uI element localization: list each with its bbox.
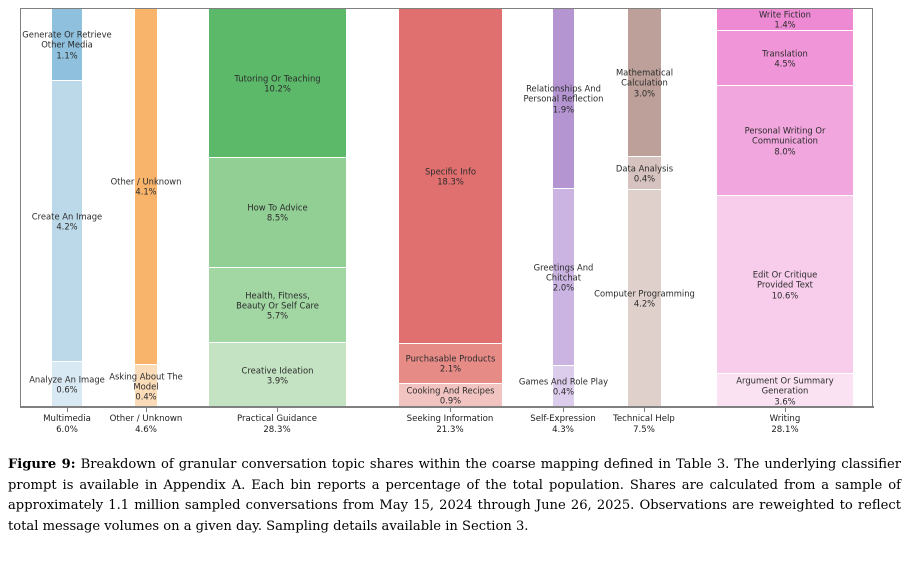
- category-total: 4.3%: [530, 425, 595, 436]
- category-total: 7.5%: [613, 425, 675, 436]
- mosaic-segment[interactable]: [209, 9, 346, 158]
- category-total: 28.3%: [237, 425, 317, 436]
- category-name: Multimedia: [43, 414, 91, 425]
- category-total: 6.0%: [43, 425, 91, 436]
- category-name: Seeking Information: [407, 414, 494, 425]
- x-tick-label-seeking-information: Seeking Information21.3%: [407, 414, 494, 436]
- x-axis-tick: [67, 407, 68, 412]
- mosaic-segment[interactable]: [399, 344, 502, 384]
- category-name: Other / Unknown: [110, 414, 183, 425]
- x-tick-label-practical-guidance: Practical Guidance28.3%: [237, 414, 317, 436]
- x-axis-tick: [644, 407, 645, 412]
- figure-container: Generate Or RetrieveOther Media1.1%Creat…: [0, 0, 909, 566]
- category-name: Practical Guidance: [237, 414, 317, 425]
- mosaic-column-other-unknown: Other / Unknown4.1%Asking About TheModel…: [135, 9, 157, 408]
- x-axis-tick: [785, 407, 786, 412]
- category-total: 21.3%: [407, 425, 494, 436]
- mosaic-segment[interactable]: [553, 366, 574, 408]
- x-axis-line: [20, 406, 874, 408]
- x-tick-label-multimedia: Multimedia6.0%: [43, 414, 91, 436]
- mosaic-segment[interactable]: [209, 158, 346, 268]
- mosaic-segment[interactable]: [717, 31, 853, 86]
- mosaic-column-multimedia: Generate Or RetrieveOther Media1.1%Creat…: [52, 9, 82, 408]
- figure-label: Figure 9:: [8, 457, 76, 472]
- category-total: 4.6%: [110, 425, 183, 436]
- x-axis-tick: [277, 407, 278, 412]
- mosaic-segment[interactable]: [52, 9, 82, 81]
- mosaic-segment[interactable]: [717, 86, 853, 196]
- mosaic-segment[interactable]: [717, 9, 853, 31]
- x-tick-label-self-expression: Self-Expression4.3%: [530, 414, 595, 436]
- mosaic-column-writing: Write Fiction1.4%Translation4.5%Personal…: [717, 9, 853, 408]
- mosaic-column-seeking-information: Specific Info18.3%Purchasable Products2.…: [399, 9, 502, 408]
- mosaic-segment[interactable]: [399, 384, 502, 408]
- mosaic-segment[interactable]: [553, 9, 574, 189]
- figure-caption-text: Breakdown of granular conversation topic…: [8, 457, 901, 534]
- category-total: 28.1%: [770, 425, 801, 436]
- category-name: Writing: [770, 414, 801, 425]
- mosaic-column-self-expression: Relationships AndPersonal Reflection1.9%…: [553, 9, 574, 408]
- mosaic-segment[interactable]: [628, 157, 661, 190]
- figure-caption: Figure 9: Breakdown of granular conversa…: [8, 455, 901, 537]
- mosaic-segment[interactable]: [209, 268, 346, 343]
- mosaic-segment[interactable]: [717, 196, 853, 374]
- mosaic-segment[interactable]: [52, 81, 82, 362]
- mosaic-segment[interactable]: [135, 365, 157, 408]
- category-name: Self-Expression: [530, 414, 595, 425]
- mosaic-segment[interactable]: [399, 9, 502, 344]
- x-tick-label-writing: Writing28.1%: [770, 414, 801, 436]
- category-name: Technical Help: [613, 414, 675, 425]
- mosaic-segment[interactable]: [209, 343, 346, 408]
- mosaic-column-technical-help: MathematicalCalculation3.0%Data Analysis…: [628, 9, 661, 408]
- mosaic-segment[interactable]: [717, 374, 853, 408]
- mosaic-segment[interactable]: [553, 189, 574, 366]
- x-tick-label-other-unknown: Other / Unknown4.6%: [110, 414, 183, 436]
- mosaic-segment[interactable]: [628, 9, 661, 157]
- mosaic-segment[interactable]: [628, 190, 661, 408]
- x-axis-tick: [450, 407, 451, 412]
- mosaic-segment[interactable]: [135, 9, 157, 365]
- x-axis-tick: [146, 407, 147, 412]
- mosaic-column-practical-guidance: Tutoring Or Teaching10.2%How To Advice8.…: [209, 9, 346, 408]
- x-axis-tick: [563, 407, 564, 412]
- mosaic-segment[interactable]: [52, 362, 82, 408]
- x-tick-label-technical-help: Technical Help7.5%: [613, 414, 675, 436]
- chart-plot-area: Generate Or RetrieveOther Media1.1%Creat…: [20, 8, 873, 407]
